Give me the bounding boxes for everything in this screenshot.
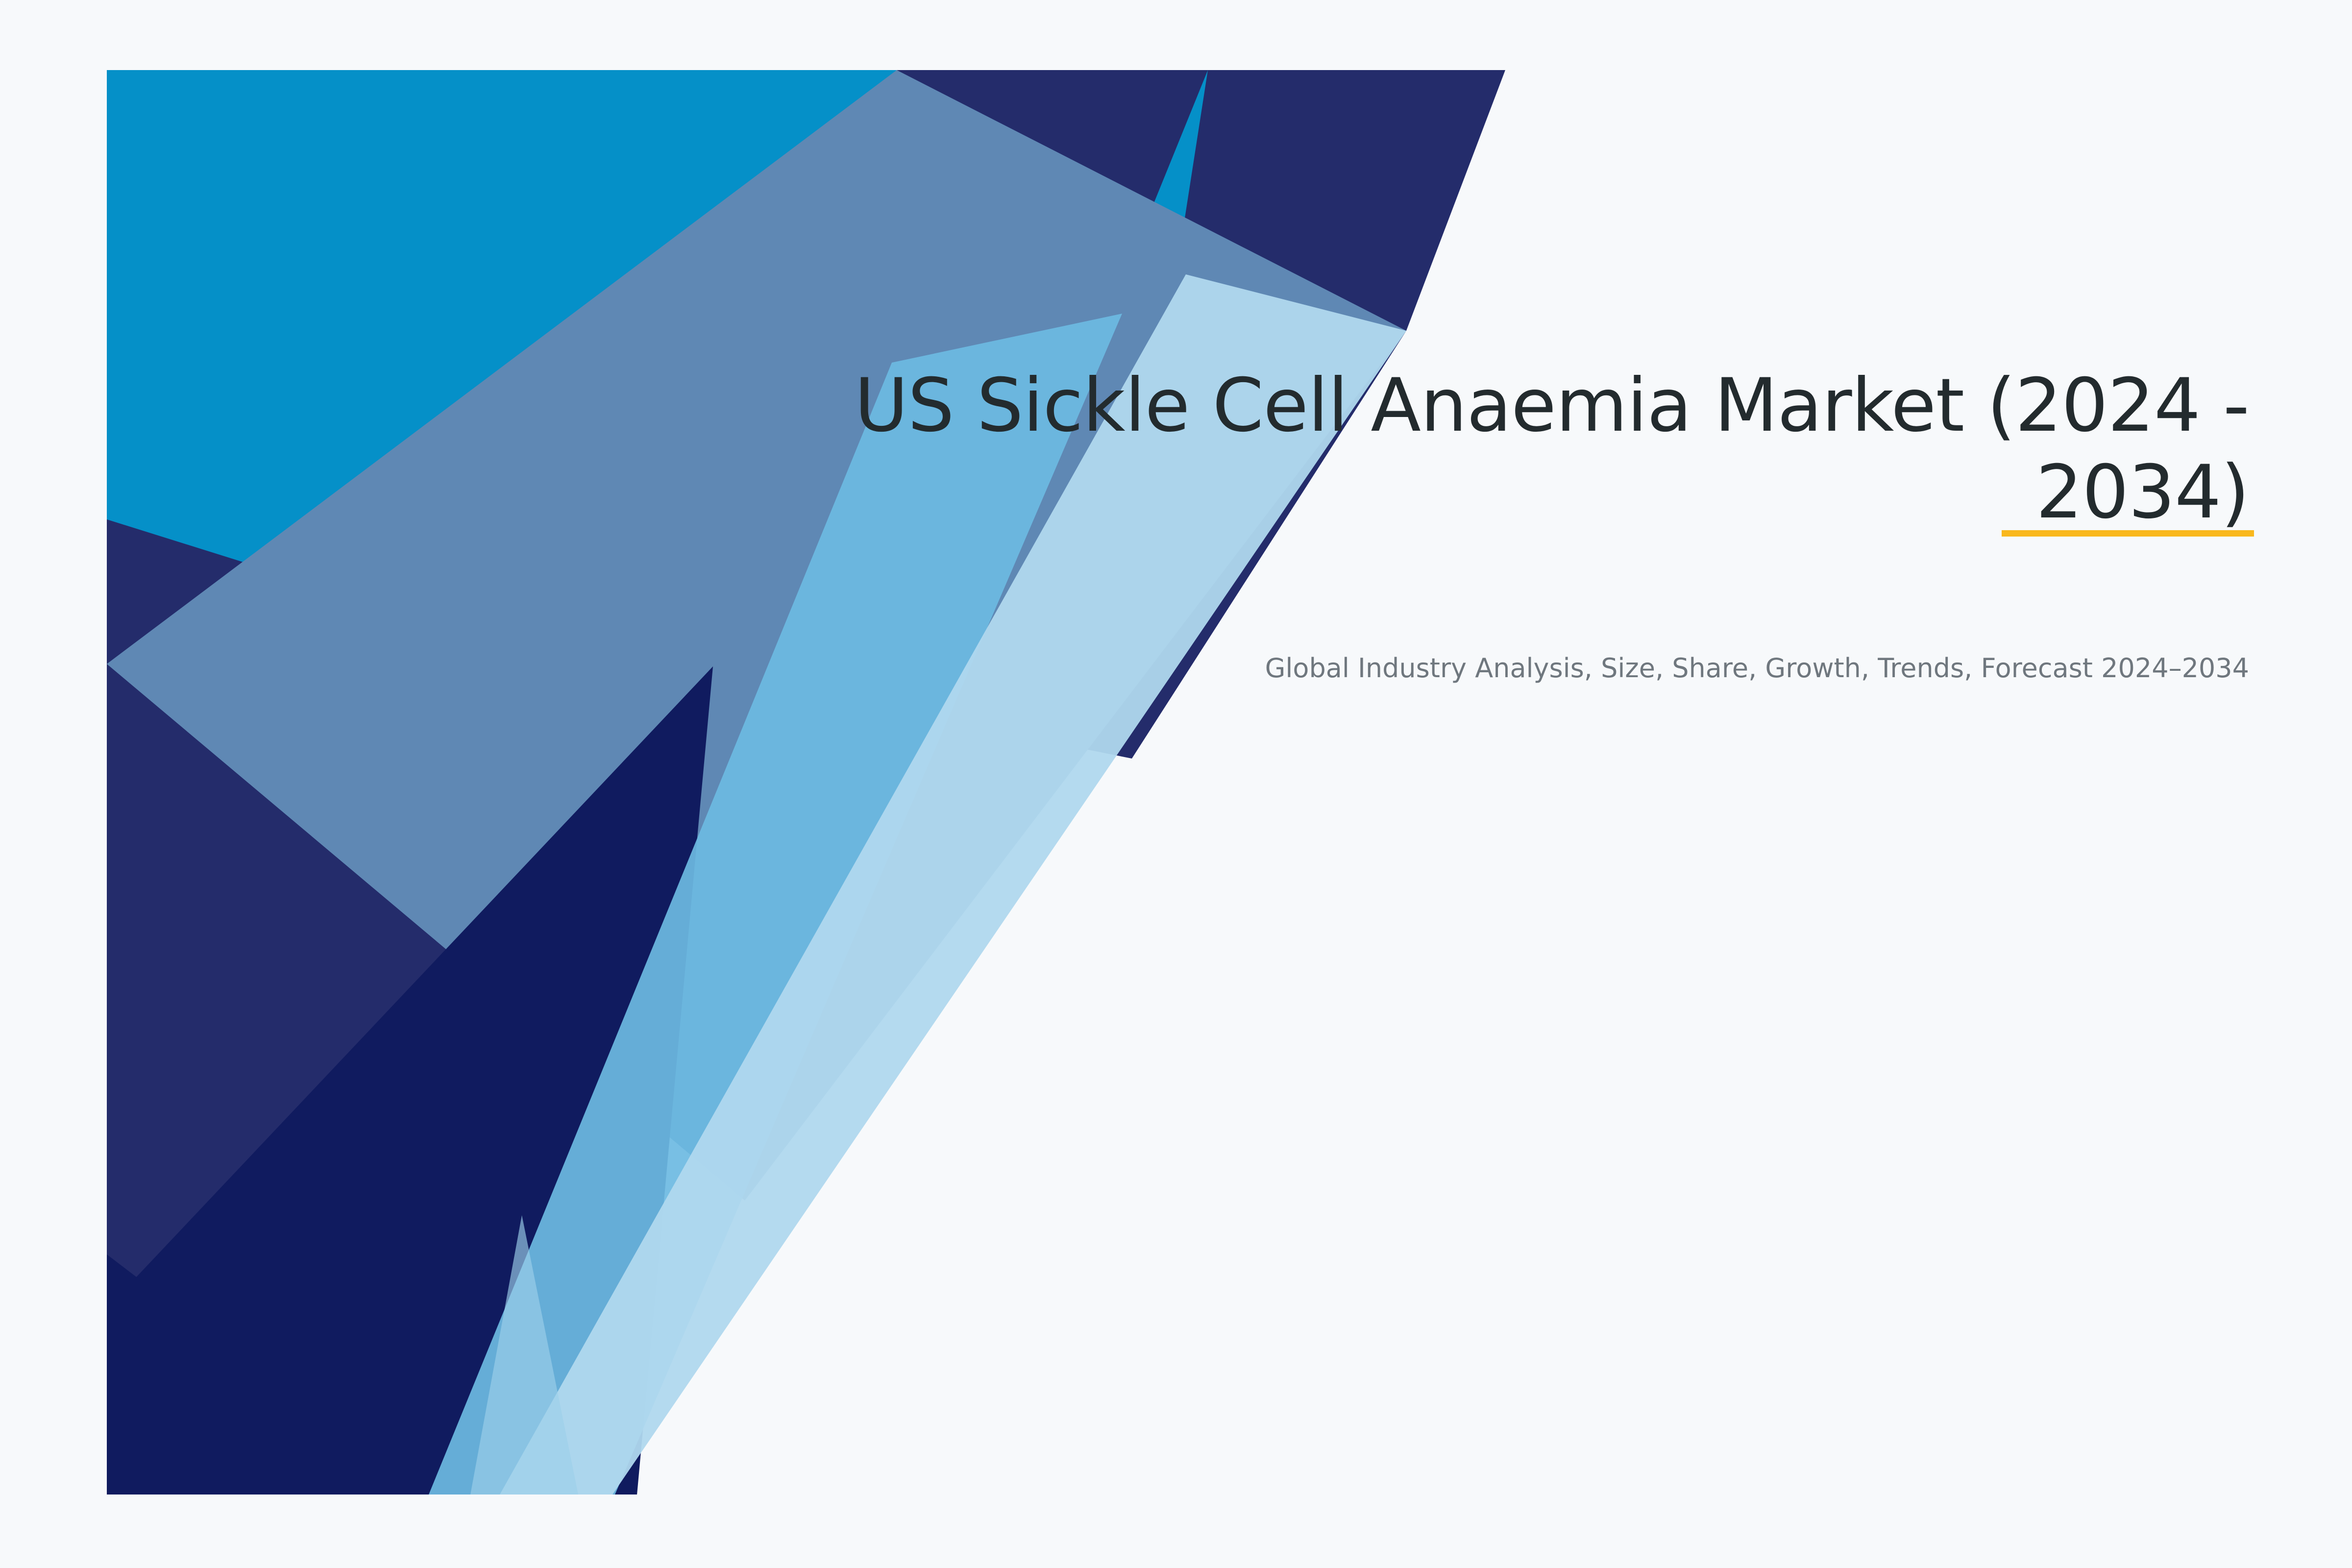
report-cover-page: US Sickle Cell Anaemia Market (2024 - 20… (0, 0, 2352, 1568)
artwork-top-mask (0, 0, 2352, 70)
page-title: US Sickle Cell Anaemia Market (2024 - 20… (833, 363, 2249, 536)
page-subtitle: Global Industry Analysis, Size, Share, G… (833, 536, 2249, 687)
artwork-left-mask (0, 0, 107, 1568)
cover-text-block: US Sickle Cell Anaemia Market (2024 - 20… (833, 363, 2249, 687)
abstract-geometric-cover-art (0, 0, 2352, 1568)
